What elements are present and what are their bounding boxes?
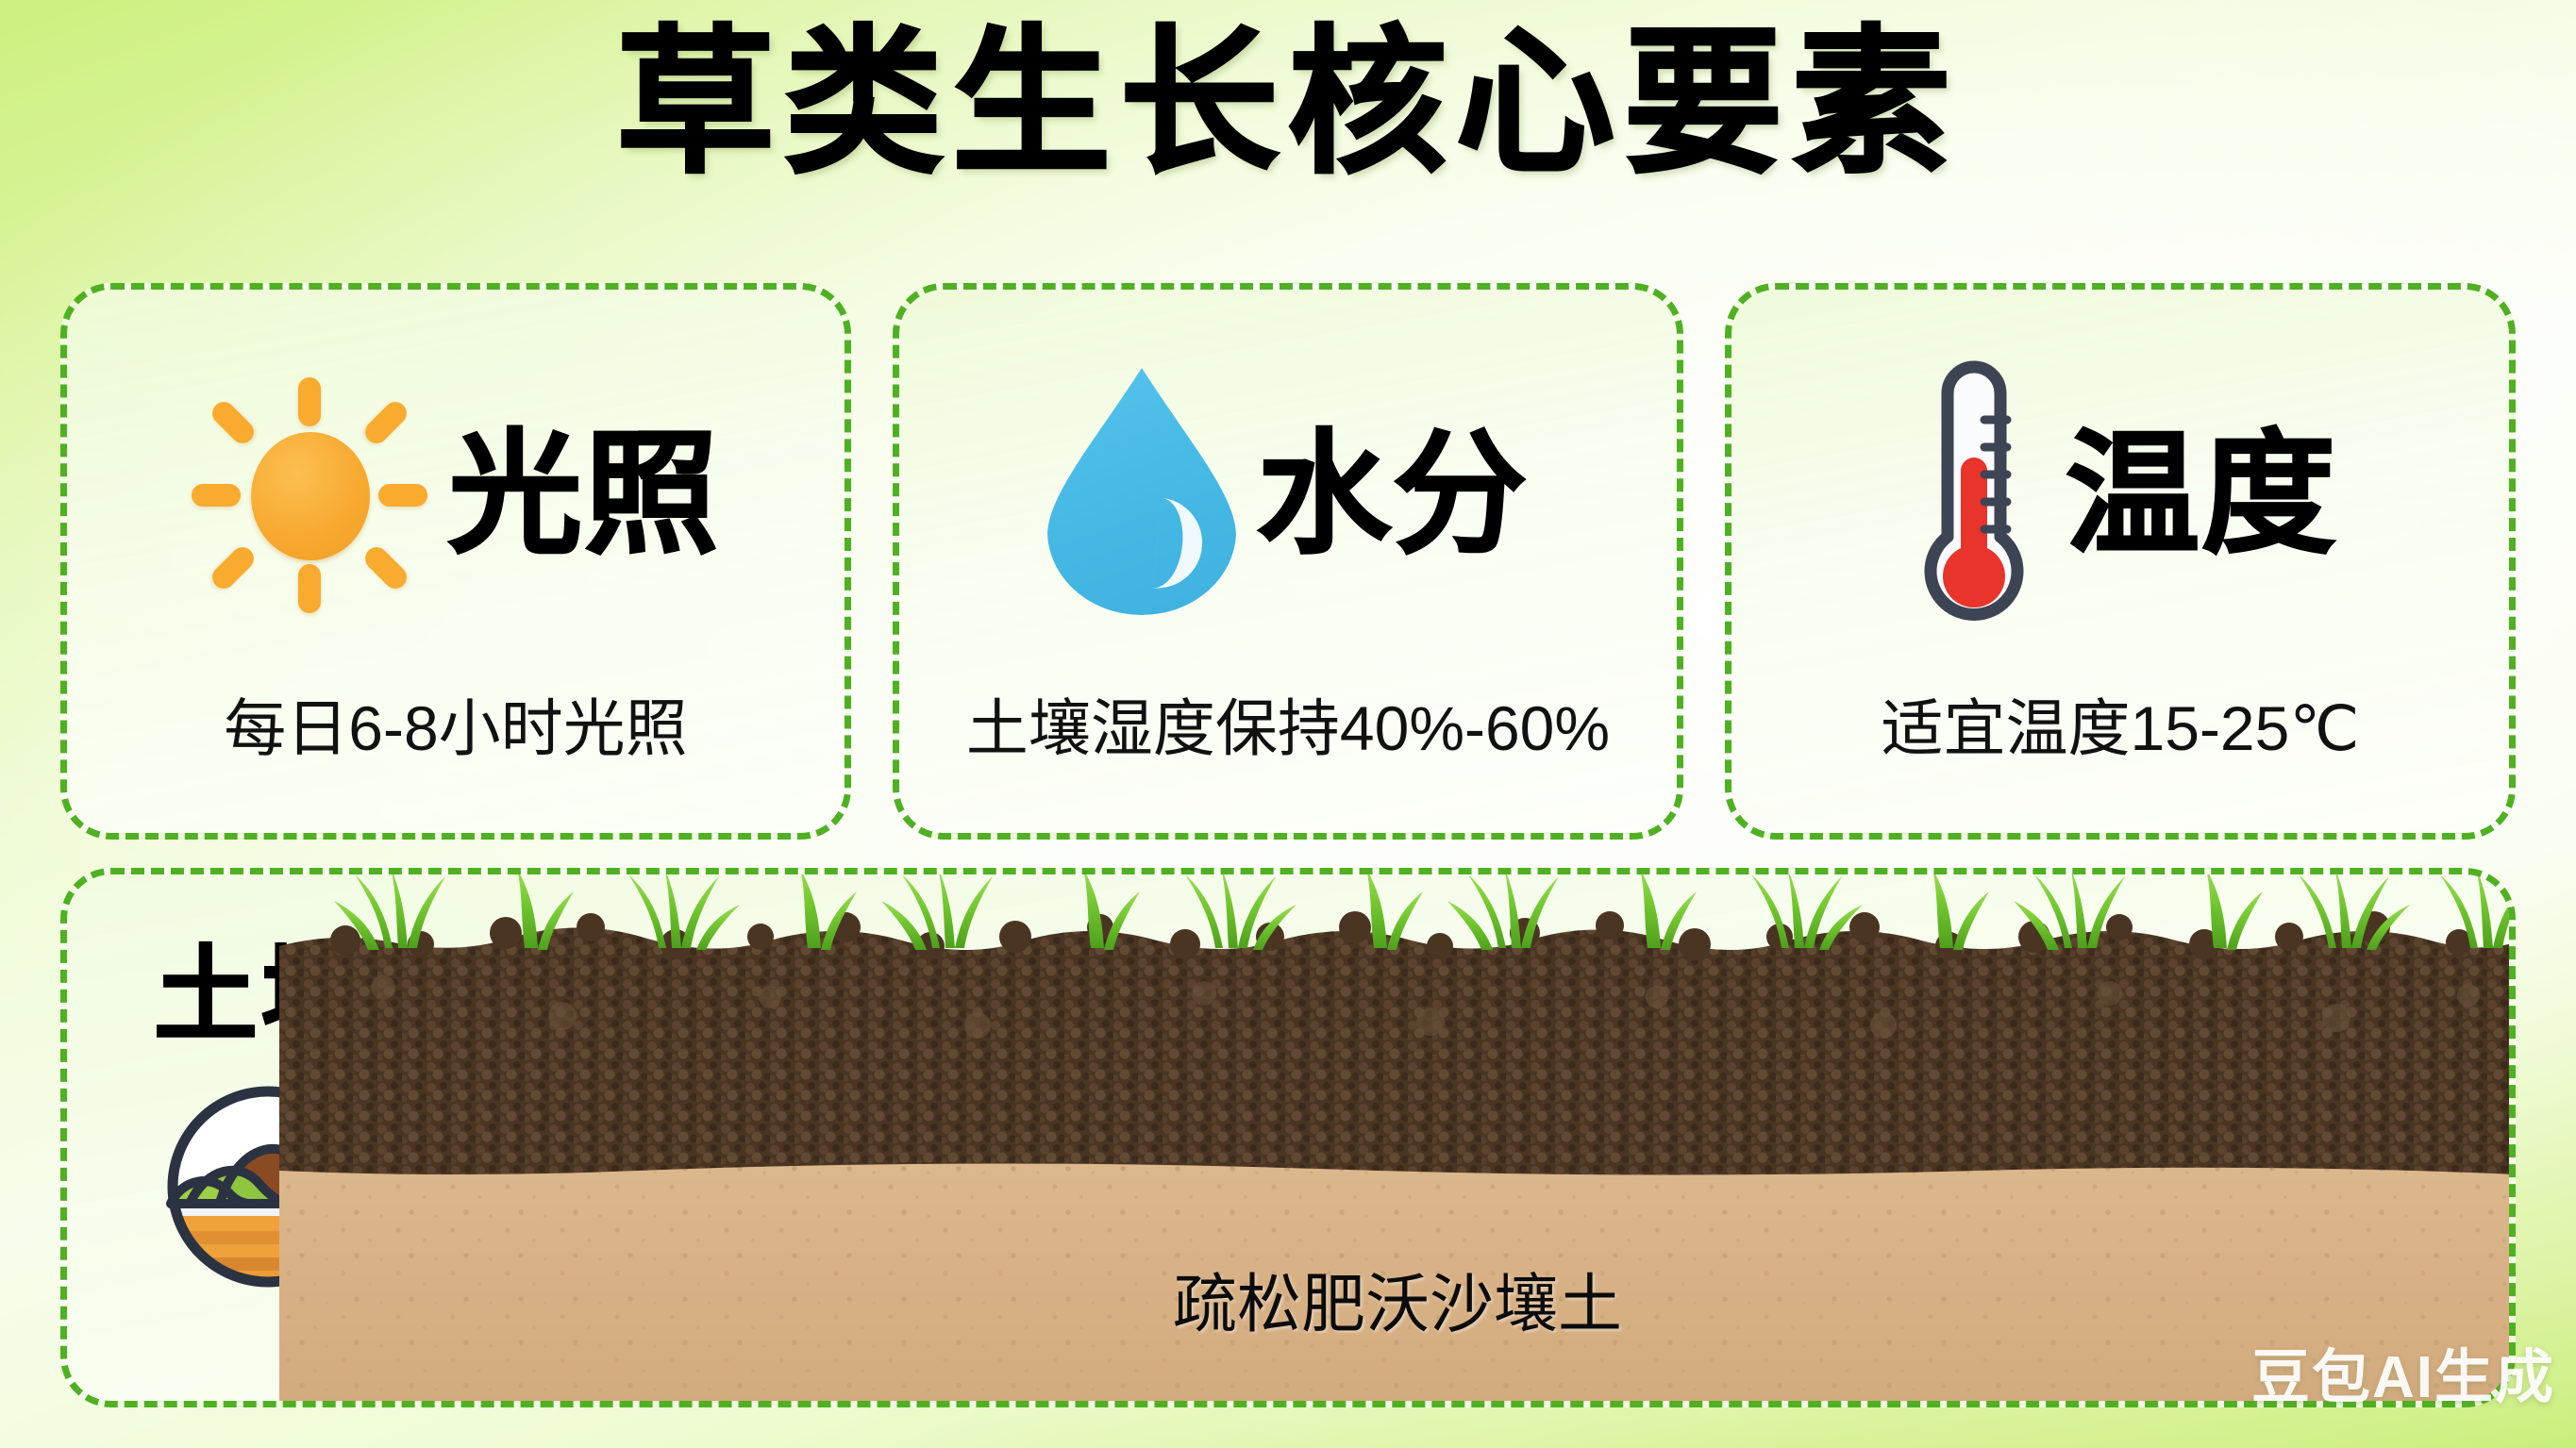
thermometer-glyph	[1903, 352, 2045, 635]
factor-card-light[interactable]: 光照 每日6-8小时光照	[60, 283, 851, 840]
card-header-temperature: 温度	[1731, 335, 2509, 656]
card-description-temperature: 适宜温度15-25℃	[1750, 678, 2490, 769]
card-description-light: 每日6-8小时光照	[86, 678, 826, 769]
page-title-container: 草类生长核心要素	[0, 9, 2576, 196]
watermark: 豆包AI生成	[2251, 1329, 2555, 1414]
card-title-temperature: 温度	[2066, 428, 2337, 562]
factor-card-row: 光照 每日6-8小时光照 水分 土壤湿度保持40%-60%	[60, 283, 2516, 840]
card-header-water: 水分	[899, 335, 1677, 656]
card-title-light: 光照	[448, 428, 720, 562]
soil-panel[interactable]: 土壤	[60, 868, 2516, 1407]
factor-card-temperature[interactable]: 温度 适宜温度15-25℃	[1725, 283, 2516, 840]
thermometer-icon	[1903, 352, 2045, 640]
card-title-water: 水分	[1257, 428, 1529, 562]
card-description-water: 土壤湿度保持40%-60%	[918, 678, 1658, 769]
water-drop-icon	[1047, 368, 1236, 623]
factor-card-water[interactable]: 水分 土壤湿度保持40%-60%	[893, 283, 1683, 840]
card-header-light: 光照	[67, 335, 845, 656]
page-title: 草类生长核心要素	[616, 9, 1960, 196]
soil-caption: 疏松肥沃沙壤土	[279, 1252, 2516, 1345]
sun-icon	[192, 377, 427, 613]
